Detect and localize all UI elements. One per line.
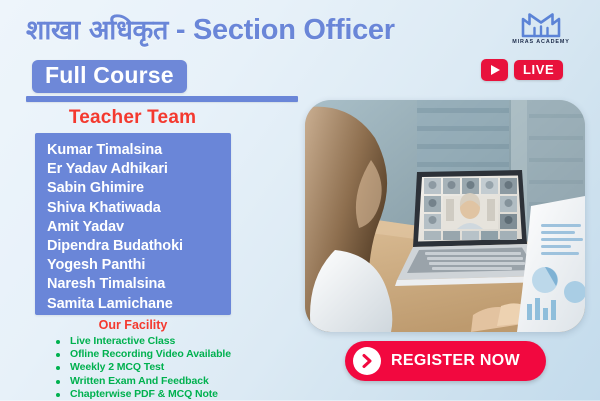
list-item: Chapterwise PDF & MCQ Note [54, 388, 231, 401]
bullet-icon [56, 380, 60, 384]
bullet-icon [56, 340, 60, 344]
crown-m-icon [520, 8, 562, 38]
teacher-team-heading: Teacher Team [35, 107, 230, 129]
full-course-badge: Full Course [32, 60, 187, 93]
play-icon[interactable] [481, 59, 508, 81]
list-item: Written Exam And Feedback [54, 375, 231, 388]
facility-label: Ofline Recording Video Available [70, 348, 231, 360]
register-now-button[interactable]: REGISTER NOW [345, 341, 546, 381]
hero-photo [305, 100, 585, 332]
list-item: Shiva Khatiwada [47, 199, 231, 218]
list-item: Naresh Timalsina [47, 275, 231, 294]
live-status-group: LIVE [481, 59, 563, 81]
facility-label: Live Interactive Class [70, 335, 175, 347]
list-item: Weekly 2 MCQ Test [54, 361, 231, 374]
page-title-devanagari: शाखा अधिकृत [26, 15, 168, 46]
page-title-separator: - [168, 14, 193, 46]
header-divider [26, 96, 298, 102]
hero-photo-illustration [305, 100, 585, 332]
list-item: Samita Lamichane [47, 295, 231, 314]
teacher-list: Kumar Timalsina Er Yadav Adhikari Sabin … [35, 133, 231, 315]
bullet-icon [56, 353, 60, 357]
facility-label: Chapterwise PDF & MCQ Note [70, 388, 218, 400]
page-title-english: Section Officer [193, 14, 395, 46]
list-item: Ofline Recording Video Available [54, 348, 231, 361]
list-item: Amit Yadav [47, 218, 231, 237]
page-title: शाखा अधिकृत - Section Officer [26, 10, 395, 47]
facility-label: Written Exam And Feedback [70, 375, 209, 387]
list-item: Sabin Ghimire [47, 179, 231, 198]
facility-list: Live Interactive Class Ofline Recording … [54, 335, 231, 401]
header-banner: शाखा अधिकृत - Section Officer Full Cours… [0, 0, 600, 95]
register-now-label: REGISTER NOW [391, 352, 520, 370]
list-item: Dipendra Budathoki [47, 237, 231, 256]
brand-logo: MIRAS ACADEMY [505, 8, 577, 45]
facility-heading: Our Facility [35, 318, 231, 332]
list-item: Kumar Timalsina [47, 141, 231, 160]
bullet-icon [56, 366, 60, 370]
live-badge: LIVE [514, 60, 563, 80]
list-item: Yogesh Panthi [47, 256, 231, 275]
list-item: Er Yadav Adhikari [47, 160, 231, 179]
facility-label: Weekly 2 MCQ Test [70, 361, 164, 373]
brand-logo-text: MIRAS ACADEMY [505, 39, 577, 45]
list-item: Live Interactive Class [54, 335, 231, 348]
arrow-right-icon [353, 347, 381, 375]
bullet-icon [56, 393, 60, 397]
